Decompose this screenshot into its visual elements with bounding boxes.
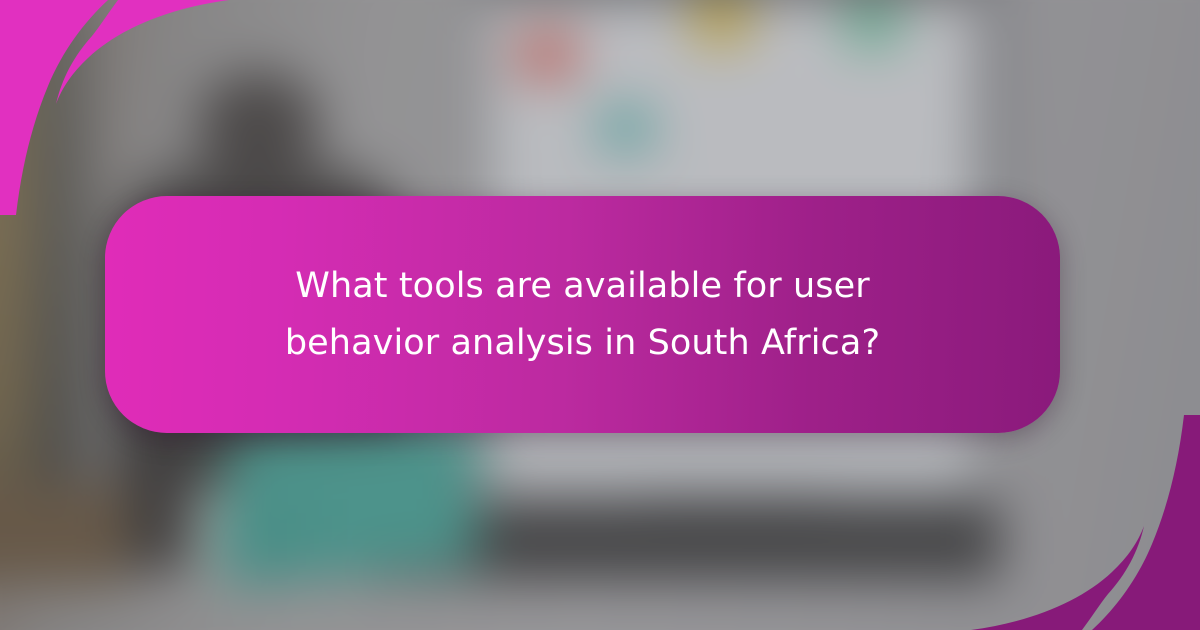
question-card: What tools are available for user behavi… (105, 196, 1060, 433)
share-card-canvas: What tools are available for user behavi… (0, 0, 1200, 630)
question-text: What tools are available for user behavi… (223, 258, 943, 371)
